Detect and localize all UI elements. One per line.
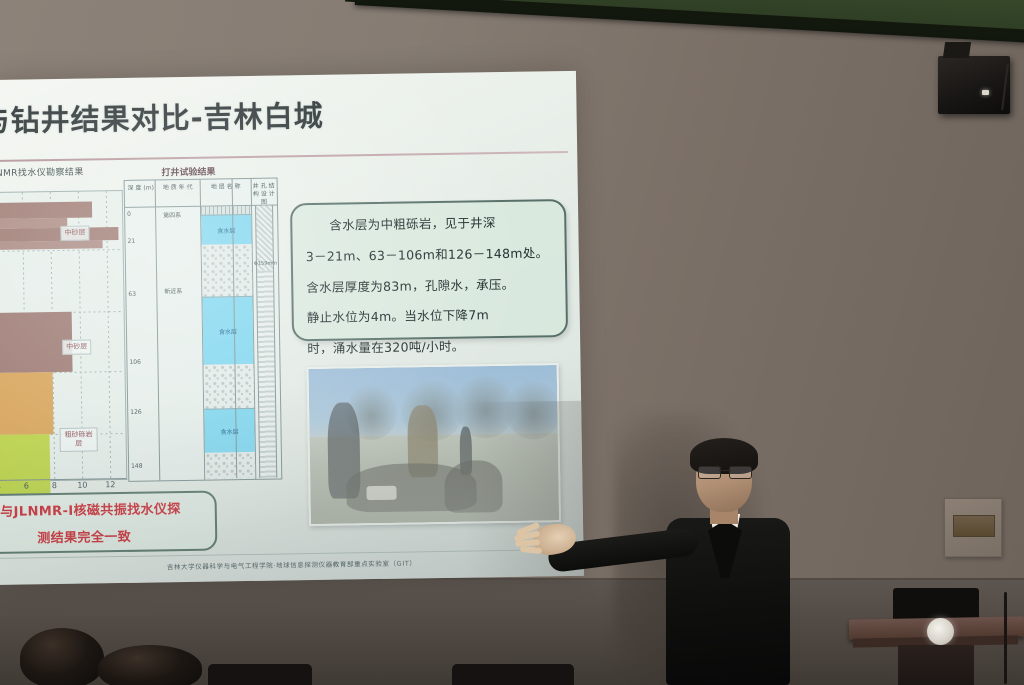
glasses-bridge [719, 470, 731, 471]
x-tick: 12 [105, 480, 115, 489]
podium-emblem-icon [927, 618, 954, 645]
depth-tick: 148 [131, 463, 143, 470]
slide-footer: 吉林大学仪器科学与电气工程学院·地球信息探测仪器教育部重点实验室（GIT） [0, 555, 584, 574]
slide: 与钻井结果对比-吉林白城 JLNMR找水仪勘察结果 打井试验结果 [0, 71, 584, 585]
lectern-body [898, 645, 974, 685]
audience-head [98, 645, 202, 685]
findings-textbox: 含水层为中粗砾岩，见于井深 3－21m、63－106m和126－148m处。 含… [290, 199, 568, 341]
log-col-divider [155, 180, 161, 480]
findings-line-5: 时，涌水量在320吨/小时。 [294, 324, 566, 359]
depth-tick: 126 [130, 409, 142, 416]
findings-line-3: 含水层厚度为83m，孔隙水，承压。 [293, 263, 565, 298]
field-site-photo [307, 363, 561, 526]
title-divider [0, 151, 568, 162]
chair-back [208, 664, 312, 685]
conclusion-box: 果与JLNMR-I核磁共振找水仪探 测结果完全一致 [0, 491, 217, 555]
depth-tick: 106 [129, 359, 141, 366]
left-chart-caption: JLNMR找水仪勘察结果 [0, 165, 84, 180]
slide-title: 与钻井结果对比-吉林白城 [0, 92, 401, 141]
conclusion-line-1: 果与JLNMR-I核磁共振找水仪探 [0, 493, 215, 524]
x-tick: 6 [24, 481, 29, 490]
wall-plate-label [953, 515, 995, 537]
glasses-icon [698, 466, 752, 477]
findings-line-1: 含水层为中粗砾岩，见于井深 [292, 201, 564, 236]
audience-head [20, 628, 104, 685]
chart-bar [0, 372, 54, 436]
depth-scale-strip [232, 178, 282, 479]
log-col-header: 地 质 年 代 [157, 184, 199, 193]
chart-bar [0, 201, 92, 219]
conclusion-line-2: 测结果完全一致 [0, 520, 215, 551]
projection-screen: 与钻井结果对比-吉林白城 JLNMR找水仪勘察结果 打井试验结果 [0, 71, 584, 585]
chart-annotation: 中砂层 [62, 339, 91, 354]
findings-line-2: 3－21m、63－106m和126－148m处。 [292, 232, 564, 267]
screenshot-root: 与钻井结果对比-吉林白城 JLNMR找水仪勘察结果 打井试验结果 [0, 0, 1024, 685]
depth-tick: 0 [127, 211, 131, 218]
depth-tick: 21 [127, 238, 135, 245]
wall-outlet-plate[interactable] [944, 498, 1002, 557]
log-col-header: 深 度 (m) [127, 184, 155, 193]
glasses-lens-left [698, 466, 721, 479]
chair-back [452, 664, 574, 685]
power-cable [1004, 592, 1007, 684]
age-label: 新近系 [164, 286, 182, 295]
speaker-led-icon [982, 90, 989, 95]
wall-speaker-icon [938, 56, 1010, 114]
x-tick: 8 [52, 481, 57, 490]
x-tick: 4 [0, 482, 1, 491]
photo-projection-haze [309, 365, 559, 524]
glasses-lens-right [729, 466, 752, 479]
x-tick: 10 [77, 481, 87, 490]
presenter [630, 440, 830, 685]
depth-tick: 63 [128, 291, 136, 298]
log-table-caption: 打井试验结果 [161, 165, 215, 179]
age-label: 第四系 [163, 210, 181, 219]
chart-annotation: 中砂层 [60, 225, 89, 240]
chart-annotation: 粗砂砾岩层 [59, 427, 97, 451]
findings-line-4: 静止水位为4m。当水位下降7m [293, 293, 565, 328]
nmr-survey-bar-chart: 中砂层 中砂层 粗砂砾岩层 [0, 190, 127, 483]
